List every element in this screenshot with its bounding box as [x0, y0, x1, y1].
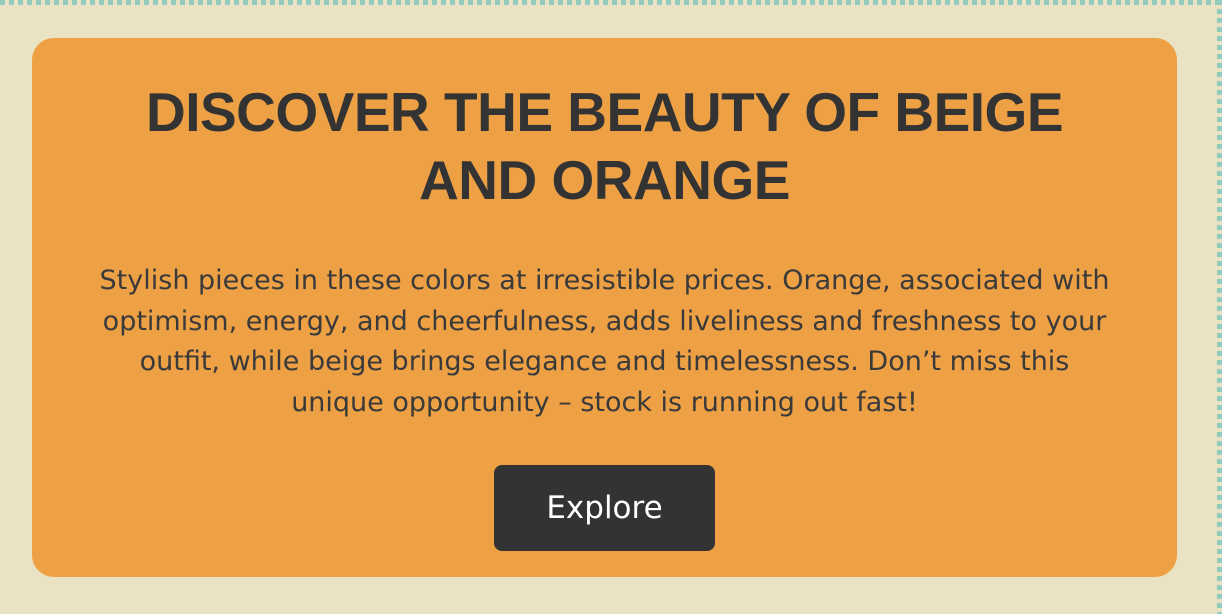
explore-button[interactable]: Explore	[494, 465, 714, 551]
page-border-right-dashed	[1217, 0, 1222, 614]
promo-page: Discover the beauty of beige and orange …	[0, 0, 1222, 614]
heading-body-spacer	[88, 214, 1121, 261]
promo-banner-card: Discover the beauty of beige and orange …	[32, 38, 1177, 577]
promo-cta-container: Explore	[88, 465, 1121, 551]
promo-description: Stylish pieces in these colors at irresi…	[88, 261, 1121, 423]
page-border-top-dashed	[0, 0, 1222, 5]
promo-heading: Discover the beauty of beige and orange	[88, 78, 1121, 214]
